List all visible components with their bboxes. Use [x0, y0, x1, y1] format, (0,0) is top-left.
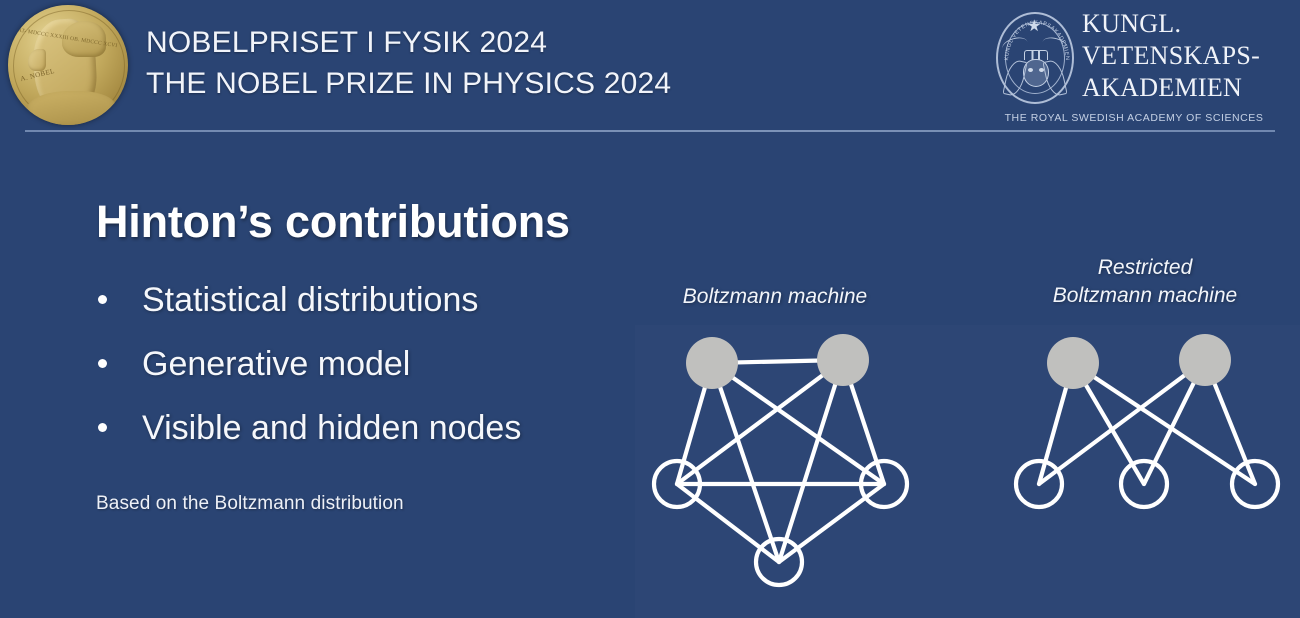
- royal-academy-seal-icon: KUNGL VETENSKAPSAKADEMIEN: [996, 12, 1074, 104]
- medal-profile-nose: [28, 49, 46, 71]
- seal-eye-left: [1028, 68, 1033, 72]
- academy-logo: KUNGL VETENSKAPSAKADEMIEN KUNGL. VETENSK…: [990, 8, 1272, 126]
- boltzmann-edge: [712, 360, 843, 363]
- boltzmann-node-visible: [756, 539, 802, 585]
- caption-text: Based on the Boltzmann distribution: [96, 493, 404, 515]
- list-item: Generative model: [96, 342, 616, 406]
- boltzmann-machine-label-line1: Boltzmann machine: [655, 283, 895, 311]
- header-title-swedish: NOBELPRISET I FYSIK 2024: [146, 22, 671, 63]
- header-divider: [25, 130, 1275, 132]
- page-title: Hinton’s contributions: [96, 196, 570, 248]
- list-item: Statistical distributions: [96, 278, 616, 342]
- restricted-boltzmann-node-hidden: [1179, 334, 1231, 386]
- boltzmann-node-visible: [654, 461, 700, 507]
- boltzmann-machine-nodes: [654, 334, 907, 585]
- restricted-boltzmann-edges: [1039, 360, 1255, 484]
- restricted-boltzmann-edge: [1039, 360, 1205, 484]
- boltzmann-edge: [712, 363, 779, 562]
- restricted-boltzmann-node-visible: [1121, 461, 1167, 507]
- bullet-dot-icon: [98, 359, 107, 368]
- restricted-boltzmann-label-line2: Boltzmann machine: [1015, 282, 1275, 310]
- restricted-boltzmann-node-visible: [1016, 461, 1062, 507]
- academy-name-line3: AKADEMIEN: [1082, 72, 1260, 104]
- restricted-boltzmann-node-visible: [1232, 461, 1278, 507]
- academy-name: KUNGL. VETENSKAPS- AKADEMIEN: [1082, 8, 1260, 104]
- diagram-panel-background: [635, 325, 1300, 618]
- restricted-boltzmann-edge: [1144, 360, 1205, 484]
- boltzmann-machine-edges: [677, 360, 884, 562]
- boltzmann-edge: [712, 363, 884, 484]
- bullet-list: Statistical distributions Generative mod…: [96, 278, 616, 470]
- header-titles: NOBELPRISET I FYSIK 2024 THE NOBEL PRIZE…: [146, 22, 671, 104]
- restricted-boltzmann-edge: [1205, 360, 1255, 484]
- bullet-label: Generative model: [142, 342, 410, 386]
- medal-profile-shoulder: [26, 91, 116, 125]
- list-item: Visible and hidden nodes: [96, 406, 616, 470]
- boltzmann-node-hidden: [817, 334, 869, 386]
- bullet-label: Visible and hidden nodes: [142, 406, 521, 450]
- boltzmann-node-visible: [861, 461, 907, 507]
- restricted-boltzmann-node-hidden: [1047, 337, 1099, 389]
- bullet-label: Statistical distributions: [142, 278, 478, 322]
- boltzmann-edge: [677, 484, 779, 562]
- restricted-boltzmann-nodes: [1016, 334, 1278, 507]
- slide-header: A. NOBEL NAT- MDCCC XXXIII OB. MDCCC XCV…: [0, 0, 1300, 132]
- restricted-boltzmann-machine-label: Restricted Boltzmann machine: [1015, 254, 1275, 310]
- restricted-boltzmann-edge: [1073, 363, 1255, 484]
- boltzmann-edge: [779, 484, 884, 562]
- boltzmann-node-hidden: [686, 337, 738, 389]
- nobel-medal-icon: A. NOBEL NAT- MDCCC XXXIII OB. MDCCC XCV…: [8, 5, 128, 125]
- bullet-dot-icon: [98, 423, 107, 432]
- academy-subtitle: THE ROYAL SWEDISH ACADEMY OF SCIENCES: [996, 112, 1272, 124]
- boltzmann-edge: [843, 360, 884, 484]
- header-title-english: THE NOBEL PRIZE IN PHYSICS 2024: [146, 63, 671, 104]
- restricted-boltzmann-edge: [1073, 363, 1144, 484]
- bullet-dot-icon: [98, 295, 107, 304]
- boltzmann-edge: [677, 363, 712, 484]
- boltzmann-edge: [779, 360, 843, 562]
- boltzmann-edge: [677, 360, 843, 484]
- slide: A. NOBEL NAT- MDCCC XXXIII OB. MDCCC XCV…: [0, 0, 1300, 618]
- academy-name-line2: VETENSKAPS-: [1082, 40, 1260, 72]
- boltzmann-machine-label: Boltzmann machine: [655, 283, 895, 311]
- restricted-boltzmann-edge: [1039, 363, 1073, 484]
- academy-name-line1: KUNGL.: [1082, 8, 1260, 40]
- restricted-boltzmann-label-line1: Restricted: [1015, 254, 1275, 282]
